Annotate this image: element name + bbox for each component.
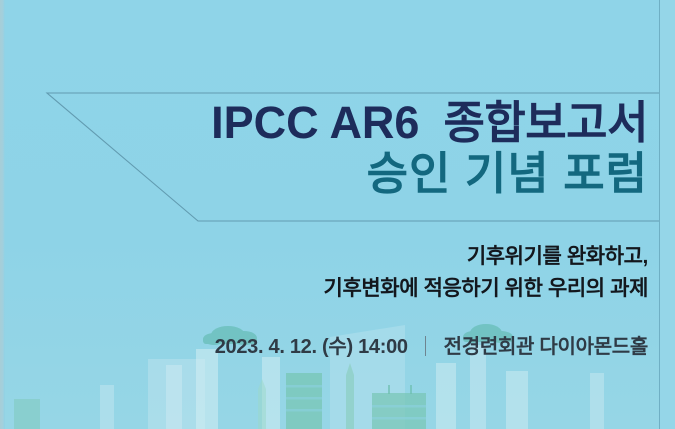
title-line-2: 승인 기념 포럼 (211, 148, 648, 199)
event-venue: 전경련회관 다이아몬드홀 (444, 336, 648, 358)
subtitle-line-2: 기후변화에 적응하기 위한 우리의 과제 (324, 273, 648, 305)
event-meta: 2023. 4. 12. (수) 14:00 전경련회관 다이아몬드홀 (215, 330, 648, 359)
meta-separator (425, 336, 426, 356)
poster-canvas: IPCC AR6 종합보고서 승인 기념 포럼 기후위기를 완화하고, 기후변화… (0, 0, 675, 429)
title-latin-text: IPCC AR6 (211, 97, 419, 148)
poster-subtitle: 기후위기를 완화하고, 기후변화에 적응하기 위한 우리의 과제 (324, 241, 648, 305)
poster-content: IPCC AR6 종합보고서 승인 기념 포럼 기후위기를 완화하고, 기후변화… (0, 0, 675, 429)
title-line-1: IPCC AR6 종합보고서 (211, 97, 648, 148)
event-date: 2023. 4. 12. (수) 14:00 (215, 336, 408, 358)
poster-title: IPCC AR6 종합보고서 승인 기념 포럼 (211, 97, 648, 200)
title-korean-text: 종합보고서 (443, 97, 648, 148)
subtitle-line-1: 기후위기를 완화하고, (324, 241, 648, 273)
